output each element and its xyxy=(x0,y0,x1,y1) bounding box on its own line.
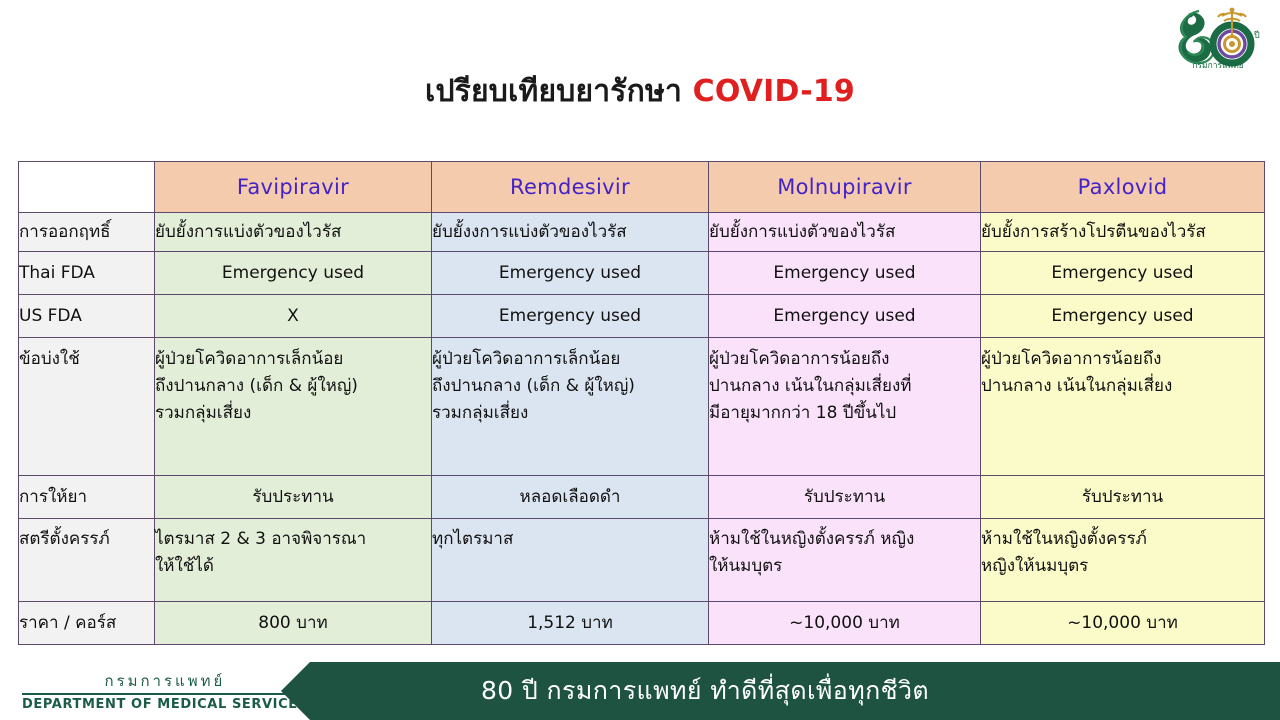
table-cell: X xyxy=(155,295,432,338)
department-name-th: กรมการแพทย์ xyxy=(22,674,308,692)
table-cell: ไตรมาส 2 & 3 อาจพิจารณาให้ใช้ได้ xyxy=(155,519,432,602)
page-title: เปรียบเทียบยารักษา COVID-19 xyxy=(0,68,1280,115)
drug-comparison-table: FavipiravirRemdesivirMolnupiravirPaxlovi… xyxy=(18,161,1265,645)
table-cell: รับประทาน xyxy=(981,476,1265,519)
comparison-table-container: FavipiravirRemdesivirMolnupiravirPaxlovi… xyxy=(18,161,1264,645)
header-blank-cell xyxy=(19,162,155,213)
table-row: ข้อบ่งใช้ผู้ป่วยโควิดอาการเล็กน้อยถึงปาน… xyxy=(19,338,1265,476)
table-cell: 800 บาท xyxy=(155,602,432,645)
table-cell: Emergency used xyxy=(155,252,432,295)
anniversary-logo: ปี กรมการแพทย์ xyxy=(1166,4,1270,72)
row-label: US FDA xyxy=(19,295,155,338)
table-cell: 1,512 บาท xyxy=(432,602,709,645)
table-row: Thai FDAEmergency usedEmergency usedEmer… xyxy=(19,252,1265,295)
svg-text:ปี: ปี xyxy=(1254,30,1260,41)
row-label: ข้อบ่งใช้ xyxy=(19,338,155,476)
page-title-highlight: COVID-19 xyxy=(693,74,855,109)
table-cell: ยับยั้งการแบ่งตัวของไวรัส xyxy=(155,213,432,252)
column-header-favipiravir: Favipiravir xyxy=(155,162,432,213)
table-cell: ห้ามใช้ในหญิงตั้งครรภ์หญิงให้นมบุตร xyxy=(981,519,1265,602)
table-body: FavipiravirRemdesivirMolnupiravirPaxlovi… xyxy=(19,162,1265,645)
table-cell: Emergency used xyxy=(432,295,709,338)
table-cell: ทุกไตรมาส xyxy=(432,519,709,602)
banner-text: 80 ปี กรมการแพทย์ ทำดีที่สุดเพื่อทุกชีวิ… xyxy=(481,671,929,711)
anniversary-banner: 80 ปี กรมการแพทย์ ทำดีที่สุดเพื่อทุกชีวิ… xyxy=(310,662,1280,720)
table-cell: ผู้ป่วยโควิดอาการน้อยถึงปานกลาง เน้นในกล… xyxy=(709,338,981,476)
footer: กรมการแพทย์ DEPARTMENT OF MEDICAL SERVIC… xyxy=(0,662,1280,720)
table-cell: ผู้ป่วยโควิดอาการเล็กน้อยถึงปานกลาง (เด็… xyxy=(155,338,432,476)
table-cell: ยับยั้งงการแบ่งตัวของไวรัส xyxy=(432,213,709,252)
wordmark-divider xyxy=(22,693,308,695)
table-row: US FDAXEmergency usedEmergency usedEmerg… xyxy=(19,295,1265,338)
table-cell: ~10,000 บาท xyxy=(981,602,1265,645)
column-header-molnupiravir: Molnupiravir xyxy=(709,162,981,213)
department-name-en: DEPARTMENT OF MEDICAL SERVICES xyxy=(22,698,308,711)
table-cell: รับประทาน xyxy=(709,476,981,519)
table-cell: ~10,000 บาท xyxy=(709,602,981,645)
table-cell: Emergency used xyxy=(981,295,1265,338)
row-label: ราคา / คอร์ส xyxy=(19,602,155,645)
table-cell: ผู้ป่วยโควิดอาการน้อยถึงปานกลาง เน้นในกล… xyxy=(981,338,1265,476)
table-cell: ผู้ป่วยโควิดอาการเล็กน้อยถึงปานกลาง (เด็… xyxy=(432,338,709,476)
department-wordmark: กรมการแพทย์ DEPARTMENT OF MEDICAL SERVIC… xyxy=(22,674,308,711)
table-cell: รับประทาน xyxy=(155,476,432,519)
table-cell: ยับยั้งการแบ่งตัวของไวรัส xyxy=(709,213,981,252)
column-header-remdesivir: Remdesivir xyxy=(432,162,709,213)
row-label: Thai FDA xyxy=(19,252,155,295)
table-header-row: FavipiravirRemdesivirMolnupiravirPaxlovi… xyxy=(19,162,1265,213)
table-cell: หลอดเลือดดำ xyxy=(432,476,709,519)
column-header-paxlovid: Paxlovid xyxy=(981,162,1265,213)
table-row: การออกฤทธิ์ยับยั้งการแบ่งตัวของไวรัสยับย… xyxy=(19,213,1265,252)
table-row: การให้ยารับประทานหลอดเลือดดำรับประทานรับ… xyxy=(19,476,1265,519)
page-title-thai: เปรียบเทียบยารักษา xyxy=(425,74,693,109)
row-label: การออกฤทธิ์ xyxy=(19,213,155,252)
table-cell: Emergency used xyxy=(432,252,709,295)
table-cell: Emergency used xyxy=(709,252,981,295)
table-row: สตรีตั้งครรภ์ไตรมาส 2 & 3 อาจพิจารณาให้ใ… xyxy=(19,519,1265,602)
table-cell: Emergency used xyxy=(709,295,981,338)
table-cell: Emergency used xyxy=(981,252,1265,295)
table-cell: ยับยั้งการสร้างโปรตีนของไวรัส xyxy=(981,213,1265,252)
row-label: การให้ยา xyxy=(19,476,155,519)
row-label: สตรีตั้งครรภ์ xyxy=(19,519,155,602)
table-cell: ห้ามใช้ในหญิงตั้งครรภ์ หญิงให้นมบุตร xyxy=(709,519,981,602)
table-row: ราคา / คอร์ส800 บาท1,512 บาท~10,000 บาท~… xyxy=(19,602,1265,645)
